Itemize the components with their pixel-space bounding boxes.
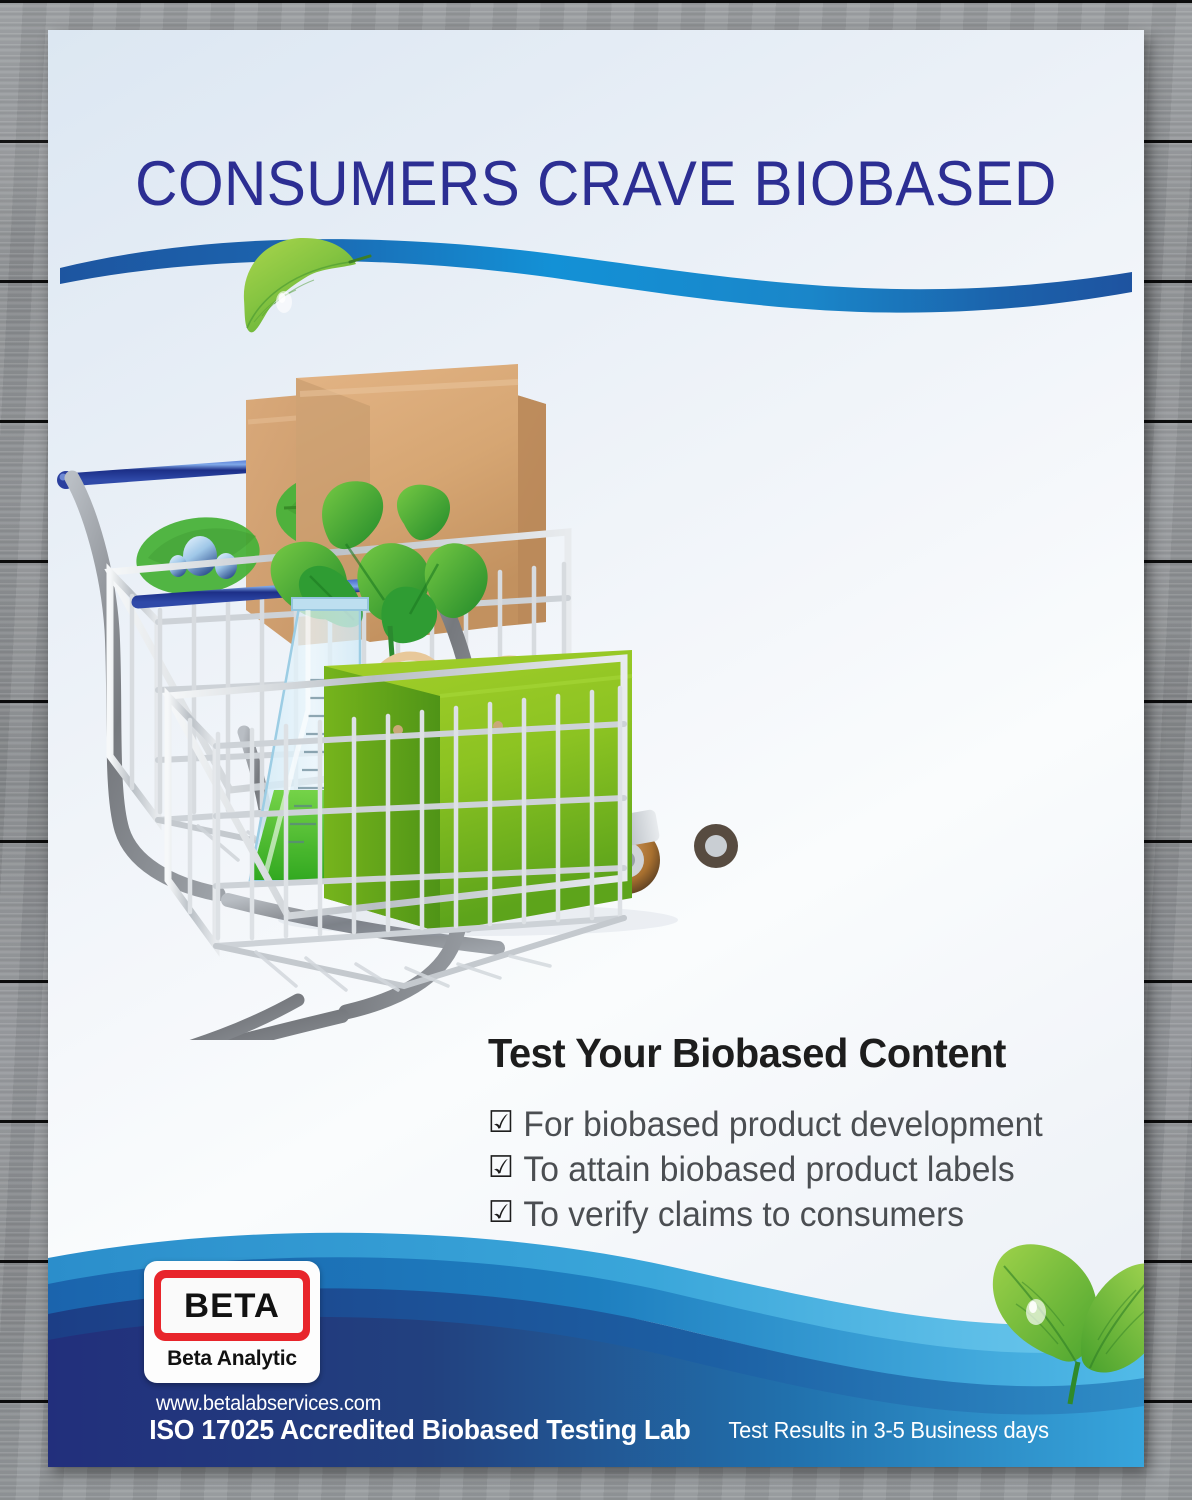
beta-logo-mark: BETA <box>154 1270 310 1341</box>
beta-wordmark: BETA <box>184 1289 280 1323</box>
brand-logo[interactable]: BETA Beta Analytic <box>144 1261 320 1383</box>
benefit-label-1: For biobased product development <box>523 1103 1042 1148</box>
benefit-label-2: To attain biobased product labels <box>523 1148 1014 1193</box>
cta-heading: Test Your Biobased Content <box>488 1030 1089 1077</box>
checkbox-checked-icon: ☑ <box>488 1108 514 1138</box>
green-shopping-bag <box>324 650 632 932</box>
poster-canvas: CONSUMERS CRAVE BIOBASED <box>48 30 1144 1467</box>
benefit-item-2: ☑ To attain biobased product labels <box>488 1148 1083 1193</box>
iso-statement: ISO 17025 Accredited Biobased Testing La… <box>149 1414 690 1446</box>
brand-name: Beta Analytic <box>154 1347 310 1371</box>
turnaround-statement: Test Results in 3-5 Business days <box>729 1417 1049 1444</box>
website-url[interactable]: www.betalabservices.com <box>156 1392 381 1416</box>
shopping-carts-illustration <box>48 360 1144 1040</box>
cta-block: Test Your Biobased Content ☑ For biobase… <box>488 1030 1108 1237</box>
header-swoosh-decoration <box>48 220 1144 340</box>
beta-logo-inner: BETA <box>161 1278 303 1333</box>
checkbox-checked-icon: ☑ <box>488 1153 514 1183</box>
page-title: CONSUMERS CRAVE BIOBASED <box>86 148 1105 220</box>
benefit-item-1: ☑ For biobased product development <box>488 1103 1083 1148</box>
